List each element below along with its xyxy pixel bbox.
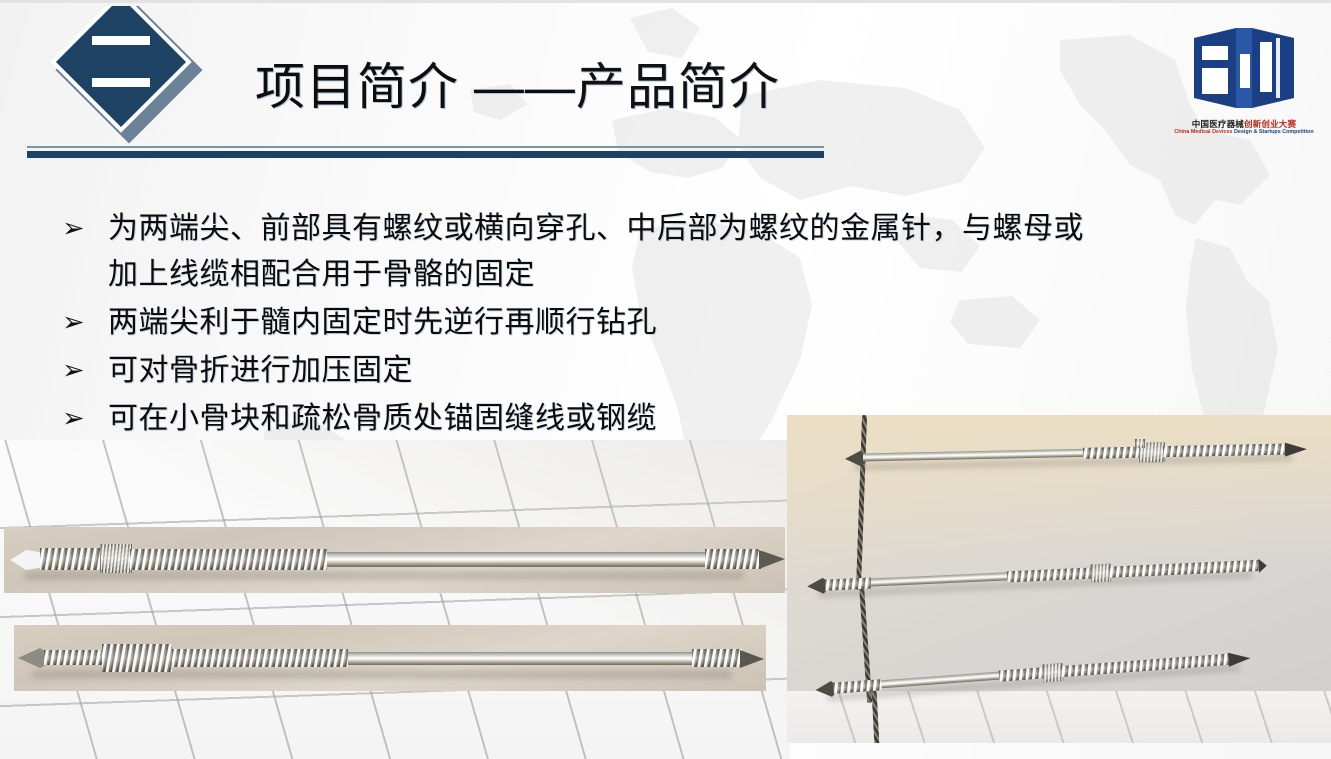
title-rule-thick — [27, 151, 824, 158]
list-item: ➢ 两端尖利于髓内固定时先逆行再顺行钻孔 — [62, 300, 1242, 346]
list-item-line: 加上线缆相配合用于骨骼的固定 — [108, 252, 1084, 298]
competition-name-cn-black: 中国医疗器械 — [1192, 119, 1244, 129]
title-main: 项目简介 — [255, 59, 459, 115]
competition-name-en-blue: Design & Startups Competition — [1234, 129, 1314, 135]
arrow-bullet-icon: ➢ — [62, 396, 108, 442]
page-title: 项目简介 ——产品简介 — [255, 62, 780, 112]
title-subtitle: 产品简介 — [576, 59, 780, 115]
three-bone-pins-with-nuts-and-cable-photo — [787, 415, 1331, 743]
tiled-floor-backdrop-photo — [0, 440, 790, 759]
bullet-list: ➢ 为两端尖、前部具有螺纹或横向穿孔、中后部为螺纹的金属针，与螺母或 加上线缆相… — [62, 206, 1242, 444]
diamond-emblem — [44, 6, 214, 154]
competition-logo: 中国医疗器械创新创业大赛 China Medical Devices Desig… — [1169, 10, 1319, 160]
list-item: ➢ 为两端尖、前部具有螺纹或横向穿孔、中后部为螺纹的金属针，与螺母或 加上线缆相… — [62, 206, 1242, 298]
open-book-door-icon — [1190, 24, 1298, 116]
arrow-bullet-icon: ➢ — [62, 348, 108, 394]
arrow-bullet-icon: ➢ — [62, 206, 108, 252]
list-item-line: 为两端尖、前部具有螺纹或横向穿孔、中后部为螺纹的金属针，与螺母或 — [108, 206, 1084, 252]
threaded-bone-pin-with-nut-photo — [4, 527, 785, 593]
list-item: ➢ 可对骨折进行加压固定 — [62, 348, 1242, 394]
list-item-line: 两端尖利于髓内固定时先逆行再顺行钻孔 — [108, 300, 657, 346]
threaded-bone-pin-photo — [14, 625, 766, 691]
list-item-line: 可在小骨块和疏松骨质处锚固缝线或钢缆 — [108, 396, 657, 442]
presentation-slide: 项目简介 ——产品简介 中国医疗器械创新创业大赛 — [0, 0, 1331, 759]
competition-name-en: China Medical Devices Design & Startups … — [1174, 130, 1313, 136]
competition-name-cn: 中国医疗器械创新创业大赛 — [1192, 120, 1296, 129]
title-dash: —— — [459, 59, 576, 115]
competition-name-cn-red: 创新创业大赛 — [1244, 119, 1296, 129]
list-item-line: 可对骨折进行加压固定 — [108, 348, 413, 394]
arrow-bullet-icon: ➢ — [62, 300, 108, 346]
title-rule-thin — [27, 146, 824, 148]
competition-name-en-red: China Medical Devices — [1174, 129, 1232, 135]
top-edge-hairline — [0, 0, 1331, 3]
